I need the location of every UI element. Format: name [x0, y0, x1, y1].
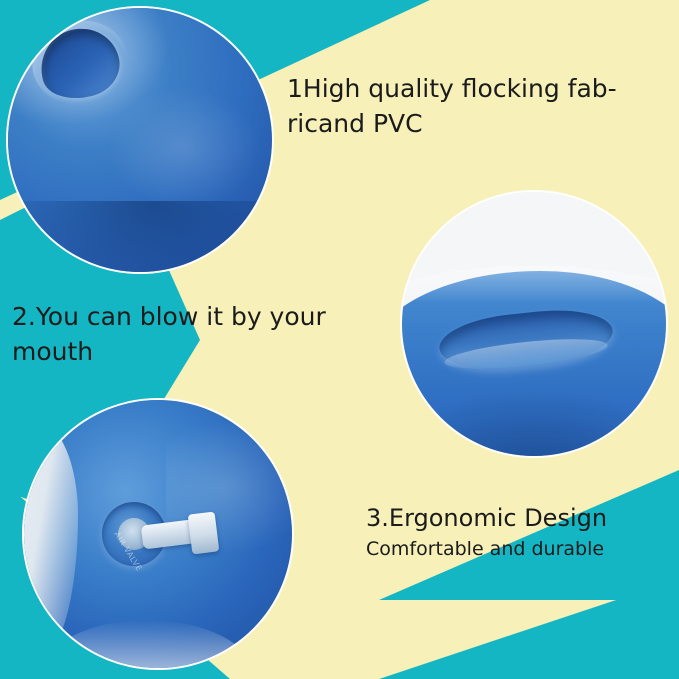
callout-1-line-1: 1High quality flocking fab- [287, 72, 659, 107]
callout-2-line-1: 2.You can blow it by your [12, 300, 392, 335]
callout-2-line-2: mouth [12, 335, 392, 370]
valve-cap [188, 511, 219, 554]
callout-1-text: 1High quality flocking fab- ricand PVC [287, 72, 659, 141]
callout-2-text: 2.You can blow it by your mouth [12, 300, 392, 369]
callout-1-line-2: ricand PVC [287, 107, 659, 142]
photo-flocking-fabric [6, 6, 274, 274]
product-infographic: AIR VALVE 1High quality flocking fab- ri… [0, 0, 679, 679]
callout-3-title: 3.Ergonomic Design [366, 502, 666, 535]
photo-ergonomic-pillow [400, 190, 668, 458]
fabric-shadow [6, 201, 274, 274]
callout-3-subtitle: Comfortable and durable [366, 536, 666, 562]
pillow-shadow [400, 390, 668, 458]
photo-inflation-valve: AIR VALVE [22, 398, 294, 670]
